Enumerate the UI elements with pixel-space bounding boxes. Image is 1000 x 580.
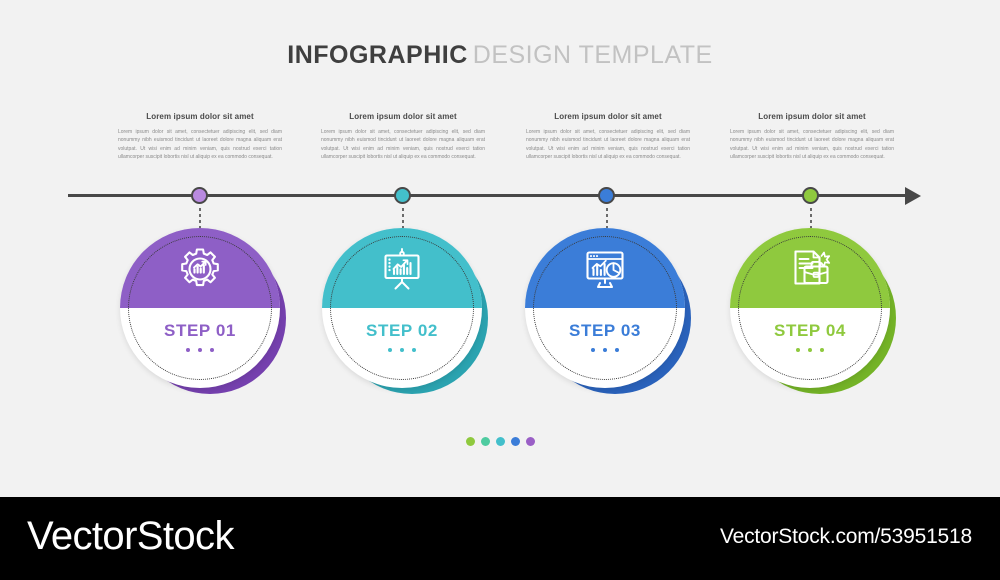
step-circle-4[interactable]: STEP 04 xyxy=(730,228,890,388)
timeline-marker-4[interactable] xyxy=(802,187,819,204)
palette-dot-4 xyxy=(511,437,520,446)
presentation-chart-icon xyxy=(322,244,482,299)
gear-chart-icon xyxy=(120,244,280,299)
text-block-body: Lorem ipsum dolor sit amet, consectetuer… xyxy=(313,128,493,161)
timeline-marker-3[interactable] xyxy=(598,187,615,204)
text-block-heading: Lorem ipsum dolor sit amet xyxy=(110,112,290,121)
step-body: STEP 02 xyxy=(322,228,482,388)
step-circle-3[interactable]: STEP 03 xyxy=(525,228,685,388)
text-block-body: Lorem ipsum dolor sit amet, consectetuer… xyxy=(722,128,902,161)
step-label: STEP 02 xyxy=(322,321,482,341)
monitor-analytics-icon xyxy=(525,244,685,299)
timeline xyxy=(0,170,1000,230)
text-block-heading: Lorem ipsum dolor sit amet xyxy=(313,112,493,121)
palette-dot-2 xyxy=(481,437,490,446)
step-circle-2[interactable]: STEP 02 xyxy=(322,228,482,388)
vectorstock-url: VectorStock.com/53951518 xyxy=(720,525,972,549)
text-block-heading: Lorem ipsum dolor sit amet xyxy=(518,112,698,121)
vectorstock-logo: VectorStock xyxy=(27,514,234,559)
step-mini-dots xyxy=(525,348,685,352)
palette-dots xyxy=(0,437,1000,446)
document-briefcase-icon xyxy=(730,244,890,299)
page-title: INFOGRAPHICDESIGN TEMPLATE xyxy=(0,41,1000,70)
timeline-arrow-icon xyxy=(905,187,921,205)
step-body: STEP 04 xyxy=(730,228,890,388)
step-body: STEP 03 xyxy=(525,228,685,388)
step-mini-dots xyxy=(120,348,280,352)
step-circle-1[interactable]: STEP 01 xyxy=(120,228,280,388)
palette-dot-5 xyxy=(526,437,535,446)
title-light: DESIGN TEMPLATE xyxy=(473,41,713,69)
text-block-4: Lorem ipsum dolor sit amet Lorem ipsum d… xyxy=(722,112,902,161)
palette-dot-1 xyxy=(466,437,475,446)
step-label: STEP 01 xyxy=(120,321,280,341)
step-label: STEP 03 xyxy=(525,321,685,341)
palette-dot-3 xyxy=(496,437,505,446)
timeline-marker-1[interactable] xyxy=(191,187,208,204)
text-block-body: Lorem ipsum dolor sit amet, consectetuer… xyxy=(518,128,698,161)
step-mini-dots xyxy=(730,348,890,352)
text-block-3: Lorem ipsum dolor sit amet Lorem ipsum d… xyxy=(518,112,698,161)
text-block-2: Lorem ipsum dolor sit amet Lorem ipsum d… xyxy=(313,112,493,161)
text-block-body: Lorem ipsum dolor sit amet, consectetuer… xyxy=(110,128,290,161)
text-block-1: Lorem ipsum dolor sit amet Lorem ipsum d… xyxy=(110,112,290,161)
step-body: STEP 01 xyxy=(120,228,280,388)
footer-bar: VectorStock VectorStock.com/53951518 xyxy=(0,497,1000,580)
title-strong: INFOGRAPHIC xyxy=(287,41,468,69)
text-block-heading: Lorem ipsum dolor sit amet xyxy=(722,112,902,121)
timeline-marker-2[interactable] xyxy=(394,187,411,204)
step-mini-dots xyxy=(322,348,482,352)
infographic-canvas: INFOGRAPHICDESIGN TEMPLATE Lorem ipsum d… xyxy=(0,0,1000,497)
step-label: STEP 04 xyxy=(730,321,890,341)
